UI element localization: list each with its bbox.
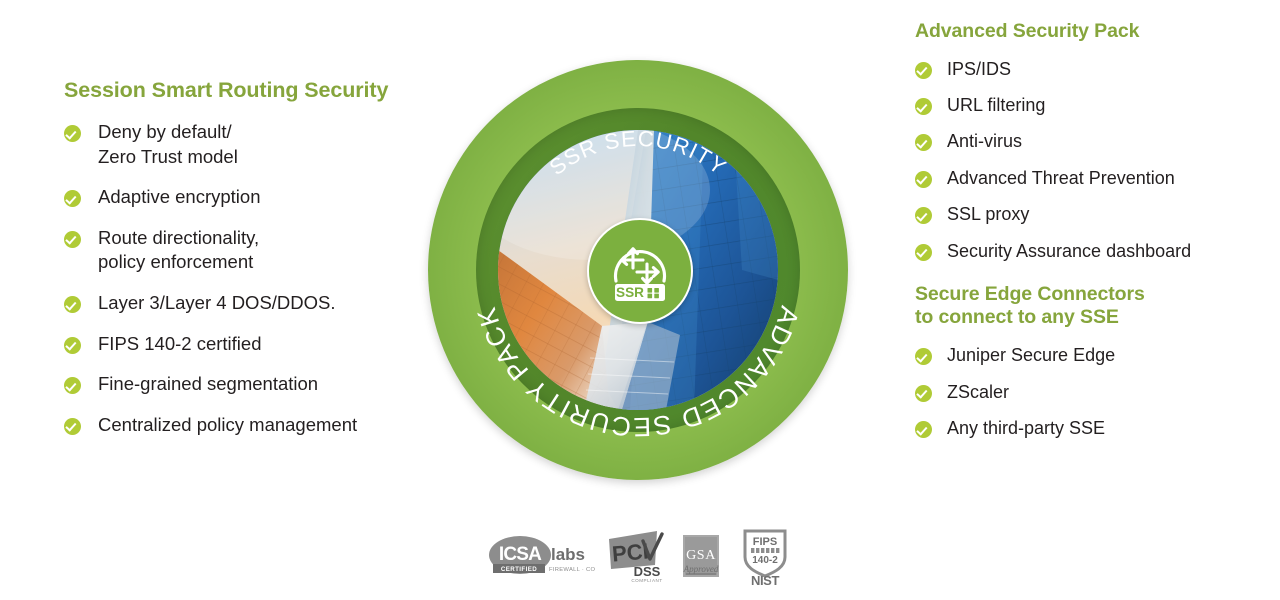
- list-item: Fine-grained segmentation: [64, 372, 464, 397]
- advanced-security-pack-list: IPS/IDS URL filtering Anti-virus Advance…: [915, 58, 1265, 263]
- list-item: URL filtering: [915, 94, 1265, 117]
- check-circle-icon: [915, 385, 932, 402]
- check-circle-icon: [915, 421, 932, 438]
- ssr-router-icon: SSR: [603, 234, 677, 308]
- fips-nist-badge-icon: FIPS 140-2 NIST: [737, 527, 793, 587]
- list-item: Any third-party SSE: [915, 417, 1265, 440]
- gsa-approved-badge-icon: GSA Approved: [677, 531, 725, 583]
- ssr-logo-label: SSR: [616, 285, 644, 300]
- check-circle-icon: [64, 377, 81, 394]
- svg-text:140-2: 140-2: [752, 555, 778, 566]
- ssr-security-feature-list: Deny by default/ Zero Trust model Adapti…: [64, 120, 464, 437]
- list-item-label: Security Assurance dashboard: [947, 240, 1191, 263]
- check-circle-icon: [64, 296, 81, 313]
- check-circle-icon: [915, 62, 932, 79]
- check-circle-icon: [915, 134, 932, 151]
- list-item: SSL proxy: [915, 203, 1265, 226]
- list-item: Advanced Threat Prevention: [915, 167, 1265, 190]
- svg-text:COMPLIANT: COMPLIANT: [631, 578, 662, 583]
- list-item: Adaptive encryption: [64, 185, 464, 210]
- right-feature-column: Advanced Security Pack IPS/IDS URL filte…: [915, 20, 1265, 453]
- svg-text:GSA: GSA: [686, 548, 716, 563]
- check-circle-icon: [64, 231, 81, 248]
- svg-text:ICSA: ICSA: [499, 544, 542, 565]
- list-item: Layer 3/Layer 4 DOS/DDOS.: [64, 291, 464, 316]
- check-circle-icon: [64, 418, 81, 435]
- pci-dss-badge-icon: PCI DSS COMPLIANT: [607, 529, 665, 585]
- list-item-label: Juniper Secure Edge: [947, 344, 1115, 367]
- list-item: ZScaler: [915, 381, 1265, 404]
- svg-text:FIPS: FIPS: [753, 536, 777, 548]
- svg-text:FIREWALL · CORPORATE: FIREWALL · CORPORATE: [549, 567, 595, 573]
- secure-edge-connectors-heading: Secure Edge Connectors to connect to any…: [915, 283, 1265, 328]
- check-circle-icon: [64, 337, 81, 354]
- list-item-label: Any third-party SSE: [947, 417, 1105, 440]
- list-item: Anti-virus: [915, 130, 1265, 153]
- check-circle-icon: [915, 207, 932, 224]
- svg-text:NIST: NIST: [751, 573, 779, 587]
- check-circle-icon: [915, 171, 932, 188]
- list-item: IPS/IDS: [915, 58, 1265, 81]
- list-item: Route directionality, policy enforcement: [64, 226, 464, 275]
- left-feature-column: Session Smart Routing Security Deny by d…: [64, 78, 464, 453]
- security-circle-diagram: SSR SECURITY ADVANCED SECURITY PACK: [428, 60, 848, 480]
- left-column-heading: Session Smart Routing Security: [64, 78, 464, 103]
- check-circle-icon: [64, 190, 81, 207]
- advanced-security-pack-heading: Advanced Security Pack: [915, 20, 1265, 43]
- list-item-label: FIPS 140-2 certified: [98, 332, 262, 357]
- svg-text:labs: labs: [551, 545, 585, 564]
- ssr-logo: SSR: [587, 218, 693, 324]
- secure-edge-connectors-list: Juniper Secure Edge ZScaler Any third-pa…: [915, 344, 1265, 440]
- list-item: Security Assurance dashboard: [915, 240, 1265, 263]
- svg-text:CERTIFIED: CERTIFIED: [501, 566, 537, 573]
- check-circle-icon: [915, 98, 932, 115]
- list-item-label: Centralized policy management: [98, 413, 357, 438]
- check-circle-icon: [64, 125, 81, 142]
- list-item-label: IPS/IDS: [947, 58, 1011, 81]
- list-item-label: Advanced Threat Prevention: [947, 167, 1175, 190]
- certification-badge-row: ICSA labs CERTIFIED FIREWALL · CORPORATE…: [487, 526, 793, 588]
- list-item: Juniper Secure Edge: [915, 344, 1265, 367]
- list-item-label: Layer 3/Layer 4 DOS/DDOS.: [98, 291, 336, 316]
- icsa-labs-badge-icon: ICSA labs CERTIFIED FIREWALL · CORPORATE: [487, 535, 595, 579]
- list-item: Centralized policy management: [64, 413, 464, 438]
- list-item-label: ZScaler: [947, 381, 1009, 404]
- list-item: FIPS 140-2 certified: [64, 332, 464, 357]
- list-item: Deny by default/ Zero Trust model: [64, 120, 464, 169]
- check-circle-icon: [915, 244, 932, 261]
- check-circle-icon: [915, 348, 932, 365]
- list-item-label: Adaptive encryption: [98, 185, 261, 210]
- svg-text:DSS: DSS: [634, 564, 661, 579]
- list-item-label: Deny by default/ Zero Trust model: [98, 120, 238, 169]
- svg-text:Approved: Approved: [683, 564, 719, 574]
- list-item-label: URL filtering: [947, 94, 1045, 117]
- list-item-label: Anti-virus: [947, 130, 1022, 153]
- list-item-label: Route directionality, policy enforcement: [98, 226, 259, 275]
- list-item-label: Fine-grained segmentation: [98, 372, 318, 397]
- list-item-label: SSL proxy: [947, 203, 1029, 226]
